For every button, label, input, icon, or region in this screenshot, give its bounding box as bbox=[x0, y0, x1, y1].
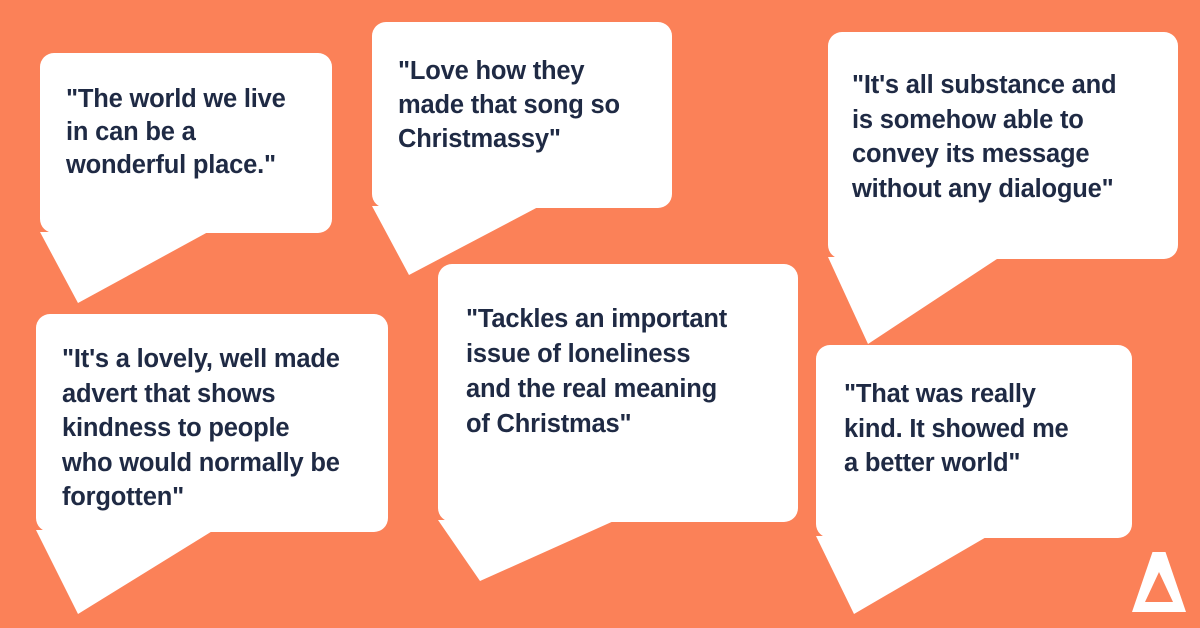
quote-text-6: "That was really kind. It showed me a be… bbox=[844, 377, 1108, 481]
speech-bubble-tail-1 bbox=[40, 232, 210, 304]
quote-bubble-5[interactable]: "Tackles an important issue of lonelines… bbox=[438, 264, 798, 522]
triangle-logo-icon bbox=[1130, 550, 1188, 614]
quote-bubble-4[interactable]: "It's a lovely, well made advert that sh… bbox=[36, 314, 388, 532]
quote-text-4: "It's a lovely, well made advert that sh… bbox=[62, 342, 364, 515]
quote-text-3: "It's all substance and is somehow able … bbox=[852, 68, 1154, 206]
quote-text-5: "Tackles an important issue of lonelines… bbox=[466, 302, 772, 442]
speech-bubble-tail-5 bbox=[438, 520, 618, 582]
speech-bubble-tail-3 bbox=[828, 257, 1003, 345]
quote-bubble-1[interactable]: "The world we live in can be a wonderful… bbox=[40, 53, 332, 233]
quote-text-2: "Love how they made that song so Christm… bbox=[398, 54, 646, 156]
quote-bubble-3[interactable]: "It's all substance and is somehow able … bbox=[828, 32, 1178, 259]
quote-text-1: "The world we live in can be a wonderful… bbox=[66, 83, 306, 182]
speech-bubble-tail-4 bbox=[36, 530, 216, 615]
quote-bubble-2[interactable]: "Love how they made that song so Christm… bbox=[372, 22, 672, 208]
quote-bubble-6[interactable]: "That was really kind. It showed me a be… bbox=[816, 345, 1132, 538]
speech-bubble-tail-6 bbox=[816, 536, 991, 615]
quote-bubbles-canvas: "The world we live in can be a wonderful… bbox=[0, 0, 1200, 628]
